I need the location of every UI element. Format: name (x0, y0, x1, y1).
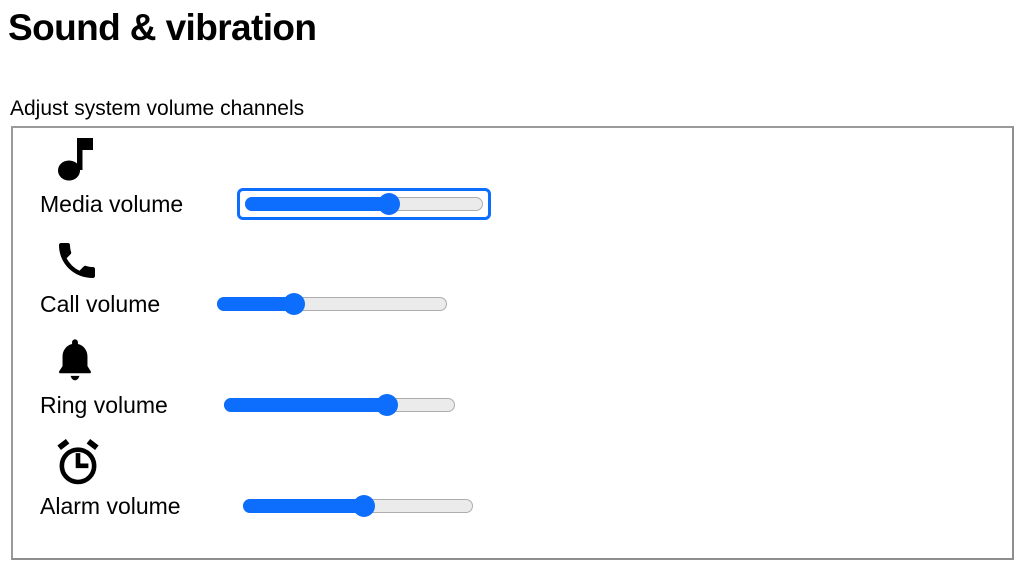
volume-row-alarm: Alarm volume (13, 432, 1012, 532)
music-note-icon (53, 134, 109, 186)
alarm-volume-track[interactable] (243, 499, 473, 513)
alarm-volume-fill (243, 499, 363, 513)
ring-volume-slider[interactable] (224, 391, 455, 419)
volume-row-media: Media volume (13, 130, 1012, 230)
ring-volume-track[interactable] (224, 398, 455, 412)
volume-row-ring: Ring volume (13, 331, 1012, 431)
media-volume-track[interactable] (245, 197, 483, 211)
call-volume-slider[interactable] (217, 290, 447, 318)
volume-row-call: Call volume (13, 230, 1012, 330)
media-volume-thumb[interactable] (378, 193, 400, 215)
volume-label-alarm: Alarm volume (40, 490, 181, 522)
volume-label-media: Media volume (40, 188, 183, 220)
call-volume-thumb[interactable] (283, 293, 305, 315)
alarm-volume-thumb[interactable] (353, 495, 375, 517)
alarm-volume-slider[interactable] (243, 492, 473, 520)
page-title: Sound & vibration (8, 4, 316, 52)
ring-volume-fill (224, 398, 386, 412)
phone-icon (53, 234, 109, 286)
volume-label-ring: Ring volume (40, 389, 168, 421)
ring-volume-thumb[interactable] (376, 394, 398, 416)
volume-channels-panel: Media volume Call volume (11, 126, 1014, 560)
media-volume-fill (245, 197, 388, 211)
call-volume-fill (217, 297, 293, 311)
bell-icon (53, 335, 109, 387)
media-volume-slider[interactable] (237, 188, 491, 220)
section-subtitle: Adjust system volume channels (10, 96, 304, 122)
call-volume-track[interactable] (217, 297, 447, 311)
volume-label-call: Call volume (40, 288, 160, 320)
alarm-clock-icon (53, 436, 109, 488)
